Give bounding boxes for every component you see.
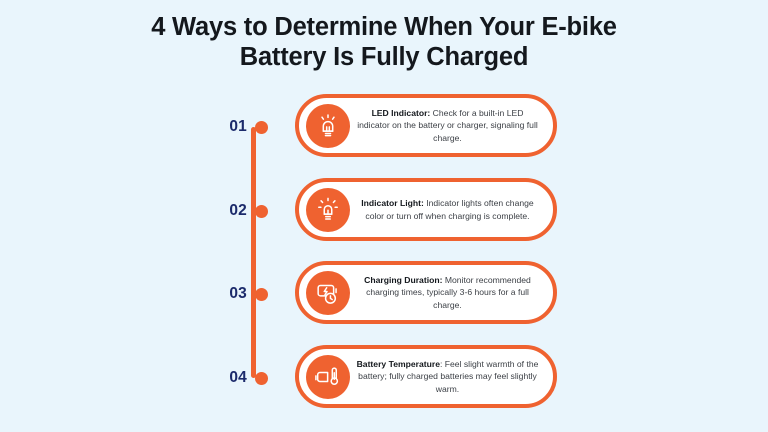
timeline-dot-02 <box>255 205 268 218</box>
step-card-text-01: LED Indicator: Check for a built-in LED … <box>350 107 543 144</box>
timeline-dot-04 <box>255 372 268 385</box>
step-card-02[interactable]: Indicator Light: Indicator lights often … <box>295 178 557 241</box>
step-card-text-02: Indicator Light: Indicator lights often … <box>350 197 543 222</box>
step-card-heading-01: LED Indicator: <box>372 108 431 118</box>
step-card-heading-03: Charging Duration: <box>364 275 442 285</box>
timeline-dot-03 <box>255 288 268 301</box>
page-title: 4 Ways to Determine When Your E-bike Bat… <box>104 12 664 72</box>
timeline-number-01: 01 <box>205 118 255 136</box>
step-card-04[interactable]: Battery Temperature: Feel slight warmth … <box>295 345 557 408</box>
step-card-text-04: Battery Temperature: Feel slight warmth … <box>350 358 543 395</box>
timeline-number-04: 04 <box>205 369 255 387</box>
timeline: 01 02 03 04 <box>205 85 300 405</box>
battery-thermometer-icon <box>306 355 350 399</box>
infographic-page: 4 Ways to Determine When Your E-bike Bat… <box>0 0 768 432</box>
battery-clock-icon <box>306 271 350 315</box>
timeline-number-02: 02 <box>205 202 255 220</box>
step-card-01[interactable]: LED Indicator: Check for a built-in LED … <box>295 94 557 157</box>
step-card-heading-04: Battery Temperature <box>357 359 440 369</box>
indicator-light-icon <box>306 188 350 232</box>
timeline-number-03: 03 <box>205 285 255 303</box>
led-bulb-icon <box>306 104 350 148</box>
page-title-line-2: Battery Is Fully Charged <box>104 42 664 72</box>
step-card-text-03: Charging Duration: Monitor recommended c… <box>350 274 543 311</box>
step-card-03[interactable]: Charging Duration: Monitor recommended c… <box>295 261 557 324</box>
page-title-line-1: 4 Ways to Determine When Your E-bike <box>104 12 664 42</box>
timeline-step-02: 02 <box>205 198 300 224</box>
timeline-step-03: 03 <box>205 281 300 307</box>
step-card-heading-02: Indicator Light: <box>361 198 424 208</box>
timeline-step-04: 04 <box>205 365 300 391</box>
timeline-step-01: 01 <box>205 114 300 140</box>
timeline-dot-01 <box>255 121 268 134</box>
